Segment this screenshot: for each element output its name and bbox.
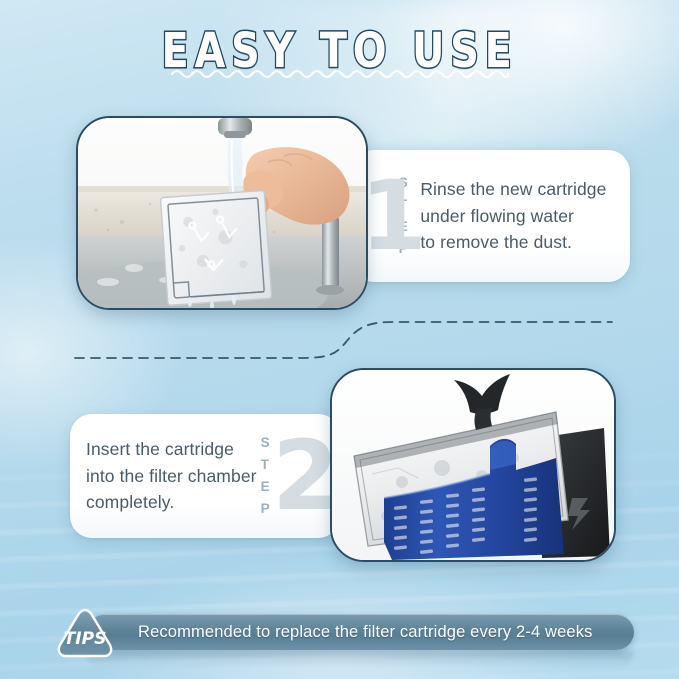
step-1-number: 1 bbox=[360, 176, 425, 257]
step-2-word: S T E P bbox=[261, 432, 271, 519]
step-2-photo bbox=[330, 368, 616, 562]
infographic-stage: EASY TO USE 1 S T E P Rinse the new cart… bbox=[0, 0, 679, 679]
step-1-photo-illustration bbox=[78, 118, 366, 308]
step-word-letter-e: E bbox=[261, 476, 271, 498]
tips-bar-background: Recommended to replace the filter cartri… bbox=[86, 614, 634, 650]
step-2-description: Insert the cartridge into the filter cha… bbox=[86, 436, 257, 516]
step-1-card: 1 S T E P Rinse the new cartridge under … bbox=[352, 150, 630, 282]
step-2-watermark: S T E P 2 bbox=[261, 432, 337, 519]
tips-badge-triangle-icon: TIPS bbox=[52, 605, 118, 661]
step-1-watermark: 1 S T E P bbox=[372, 172, 410, 259]
step-2-number: 2 bbox=[272, 436, 337, 517]
title-block: EASY TO USE bbox=[0, 22, 679, 70]
step-word-letter-s: S bbox=[261, 432, 271, 454]
title-wave-divider bbox=[170, 66, 510, 80]
tips-badge: TIPS bbox=[52, 605, 118, 661]
step-word-letter-t: T bbox=[261, 454, 271, 476]
step-1-photo bbox=[76, 116, 368, 310]
tips-badge-label: TIPS bbox=[64, 629, 107, 649]
tips-text: Recommended to replace the filter cartri… bbox=[138, 623, 593, 642]
step-1-description: Rinse the new cartridge under flowing wa… bbox=[420, 176, 606, 256]
step-word-letter-p: P bbox=[261, 498, 271, 520]
tips-bar: Recommended to replace the filter cartri… bbox=[52, 611, 634, 653]
step-2-card: Insert the cartridge into the filter cha… bbox=[70, 414, 340, 538]
tips-bar-reflection bbox=[86, 652, 634, 668]
step-2-photo-illustration bbox=[332, 370, 614, 560]
